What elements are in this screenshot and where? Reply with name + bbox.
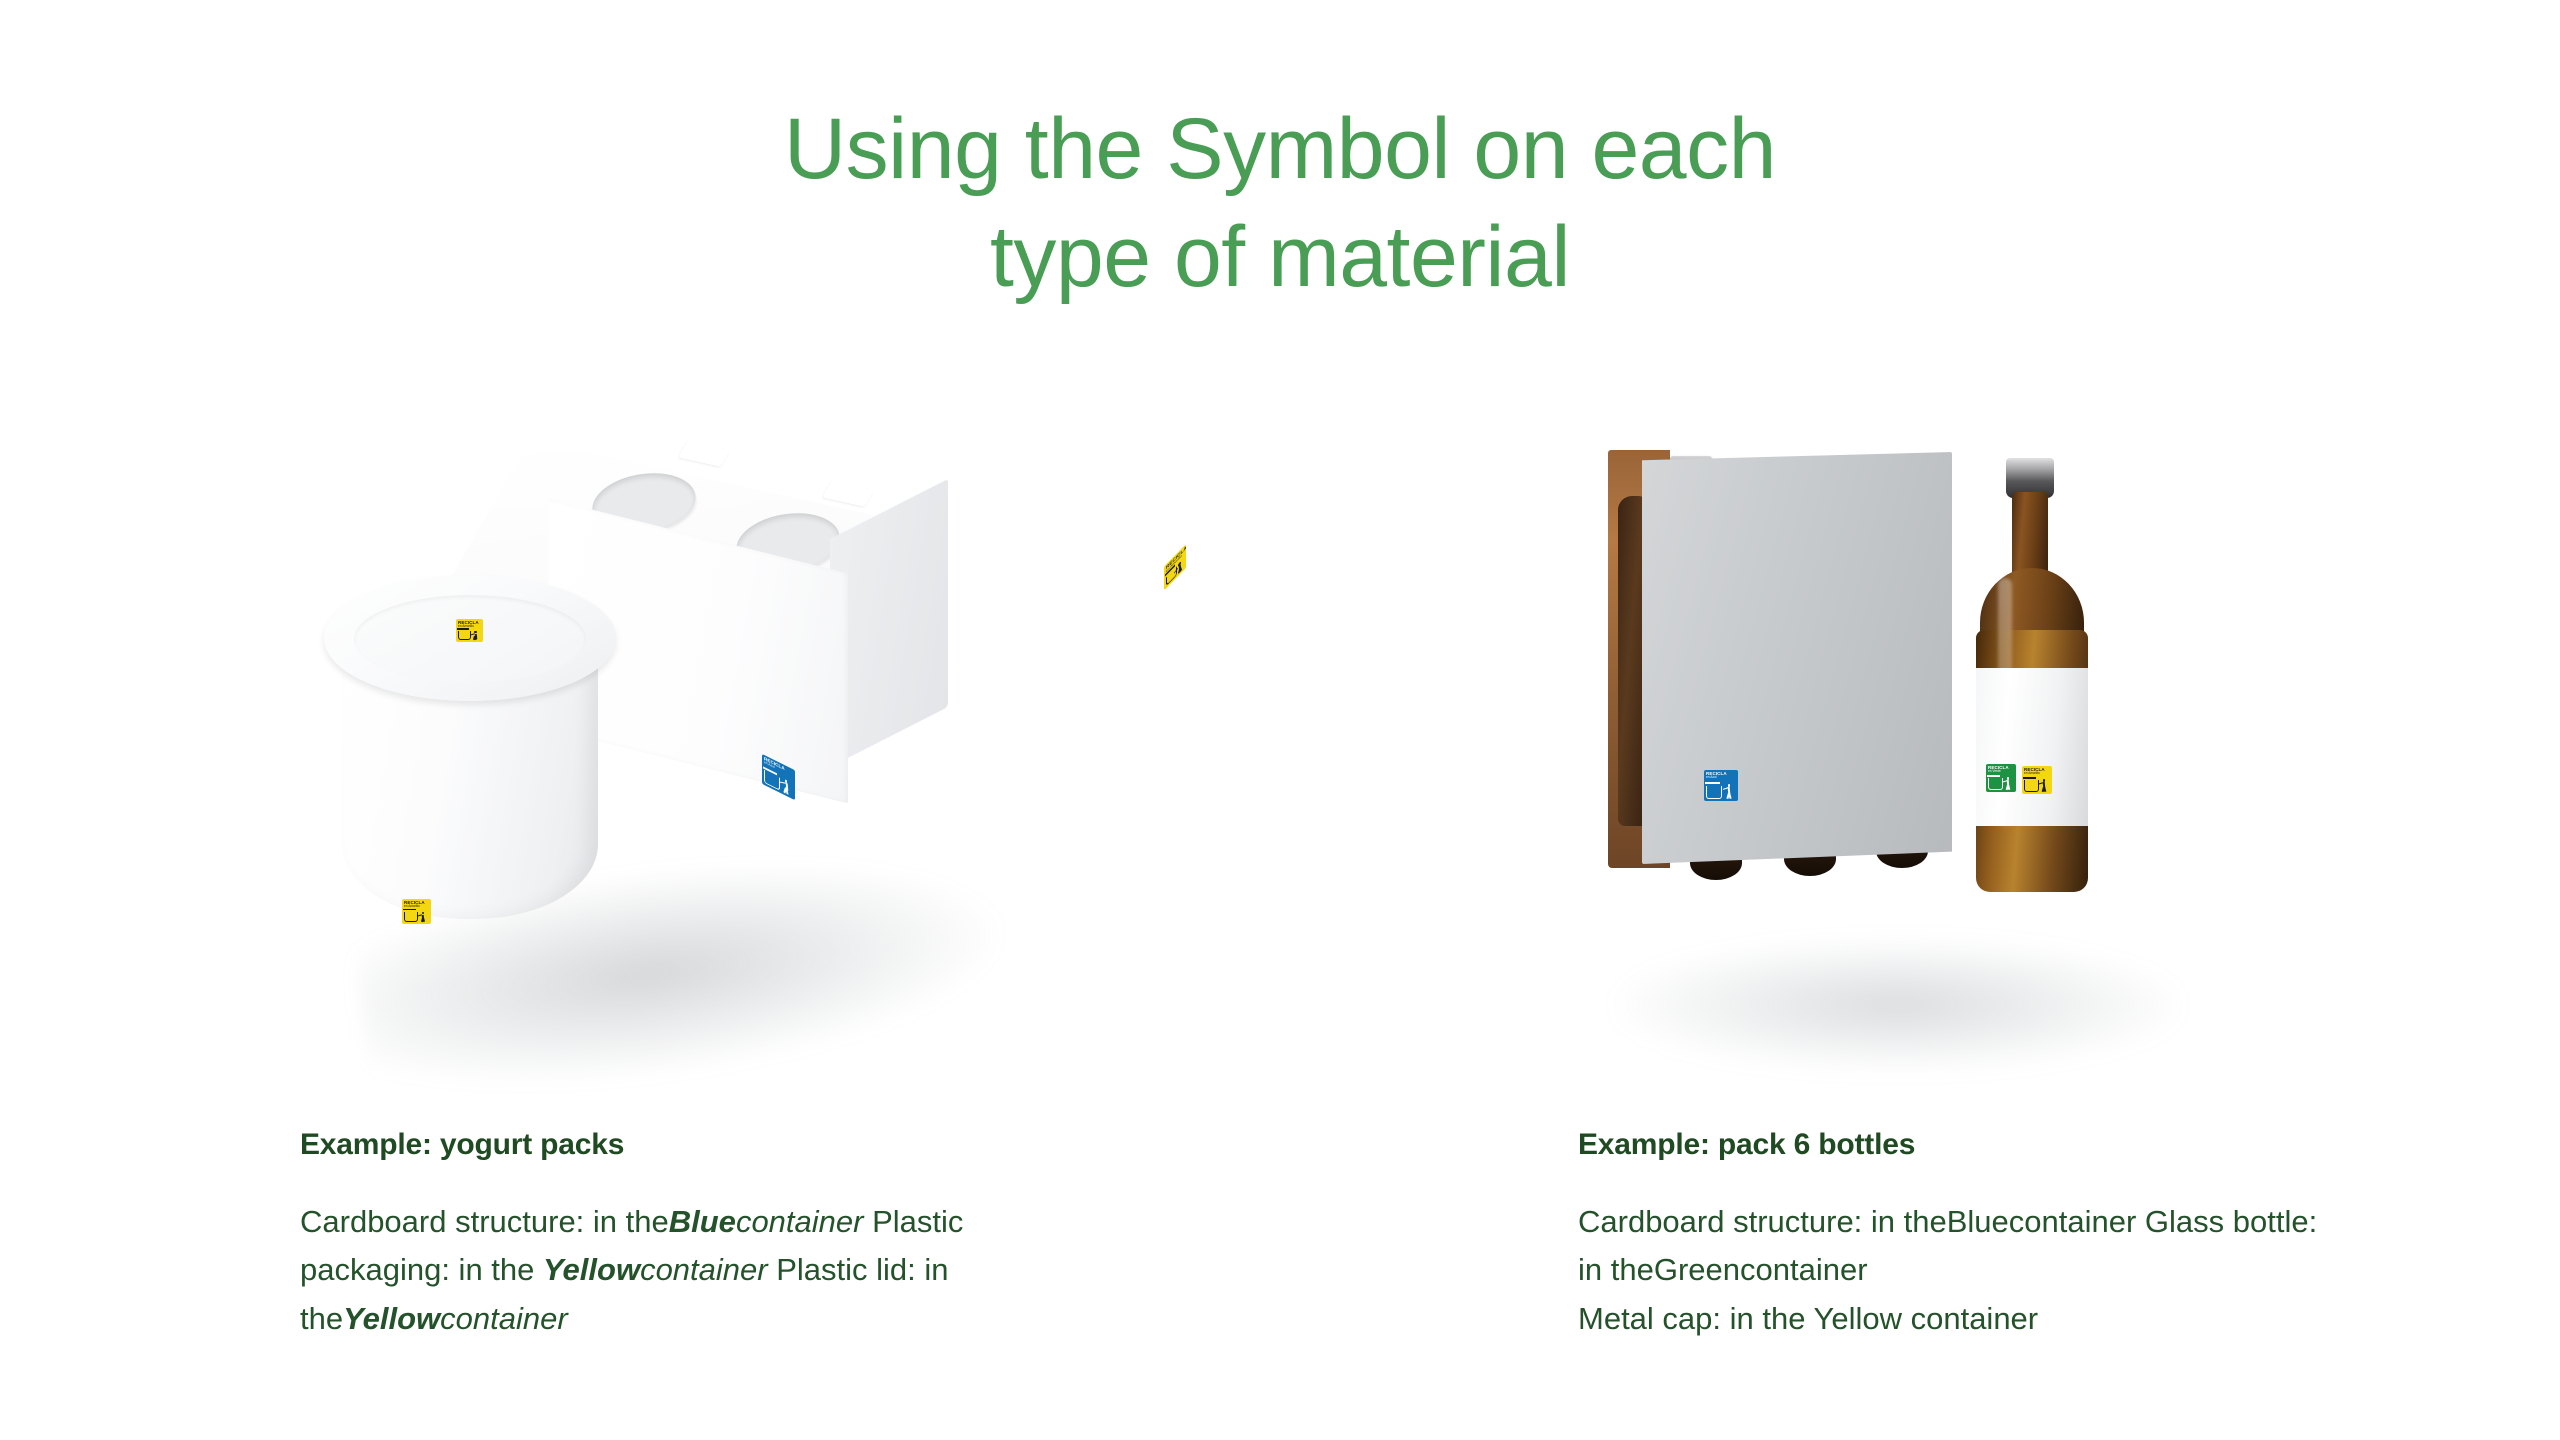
caption-run: container: [736, 1204, 864, 1239]
column-yogurt: RECICLA en Amarillo RECICLA en Azul: [300, 440, 1360, 1080]
front-glass-bottle: RECICLA en Verde RECICLA en Amarillo: [1946, 458, 2136, 906]
pack-6-bottles-image: RECICLA en Azul RECI: [1578, 440, 2560, 1080]
yogurt-caption-heading: Example: yogurt packs: [300, 1128, 1020, 1162]
bottle-label: RECICLA en Verde RECICLA en Amarillo: [1976, 668, 2088, 826]
sleeve-notch: [822, 481, 874, 506]
yogurt-packs-figure: RECICLA en Amarillo RECICLA en Azul: [300, 440, 1360, 1080]
caption-line: Metal cap: in the Yellow container: [1578, 1295, 2338, 1343]
bottles-caption-body: Cardboard structure: in theBluecontainer…: [1578, 1198, 2338, 1343]
recycling-sticker-yellow-pot-body: RECICLA en Amarillo: [402, 899, 431, 924]
caption-run: container: [640, 1252, 768, 1287]
caption-run: Blue: [669, 1204, 736, 1239]
caption-run: Cardboard structure: in the: [300, 1204, 669, 1239]
recycling-sticker-yellow-bottle-label: RECICLA en Amarillo: [2022, 766, 2052, 794]
sleeve-notch: [678, 441, 730, 466]
caption-run: container: [440, 1301, 568, 1336]
recycling-sticker-yellow-pot-lid: RECICLA en Amarillo: [456, 619, 483, 642]
bottles-caption-heading: Example: pack 6 bottles: [1578, 1128, 2338, 1162]
recycle-bin-person-icon: [1986, 774, 2016, 792]
column-bottles: RECICLA en Azul RECI: [1578, 440, 2560, 1080]
recycling-sticker-yellow-sleeve-side: RECICLA en Amarillo: [1164, 544, 1186, 590]
caption-run: Yellow: [543, 1252, 640, 1287]
yogurt-pot: RECICLA en Amarillo RECICLA en Amarillo: [320, 565, 650, 935]
six-pack-sleeve: RECICLA en Azul: [1608, 450, 1968, 870]
page-title: Using the Symbol on each type of materia…: [0, 95, 2560, 312]
recycling-sticker-green-bottle-label: RECICLA en Verde: [1986, 764, 2016, 792]
bottles-drop-shadow: [1618, 940, 2178, 1070]
sleeve-front-panel: RECICLA en Azul: [1642, 452, 1952, 864]
recycle-bin-person-icon: [2022, 776, 2052, 794]
recycling-sticker-blue-sleeve-front: RECICLA en Azul: [762, 754, 795, 800]
yogurt-caption: Example: yogurt packs Cardboard structur…: [300, 1128, 1020, 1343]
caption-run: Yellow: [343, 1301, 440, 1336]
yogurt-caption-body: Cardboard structure: in theBluecontainer…: [300, 1198, 1000, 1343]
pack-6-bottles-figure: RECICLA en Azul RECI: [1578, 440, 2560, 1080]
caption-line: Cardboard structure: in theBluecontainer…: [1578, 1198, 2338, 1295]
yogurt-packs-image: RECICLA en Amarillo RECICLA en Azul: [300, 440, 1360, 1080]
recycle-bin-person-icon: [402, 909, 431, 924]
recycle-bin-person-icon: [456, 629, 483, 642]
recycling-sticker-blue-pack-sleeve: RECICLA en Azul: [1704, 770, 1738, 801]
bottles-caption: Example: pack 6 bottles Cardboard struct…: [1578, 1128, 2338, 1343]
pot-lid: RECICLA en Amarillo: [324, 575, 616, 701]
recycle-bin-person-icon: [1704, 780, 1738, 801]
